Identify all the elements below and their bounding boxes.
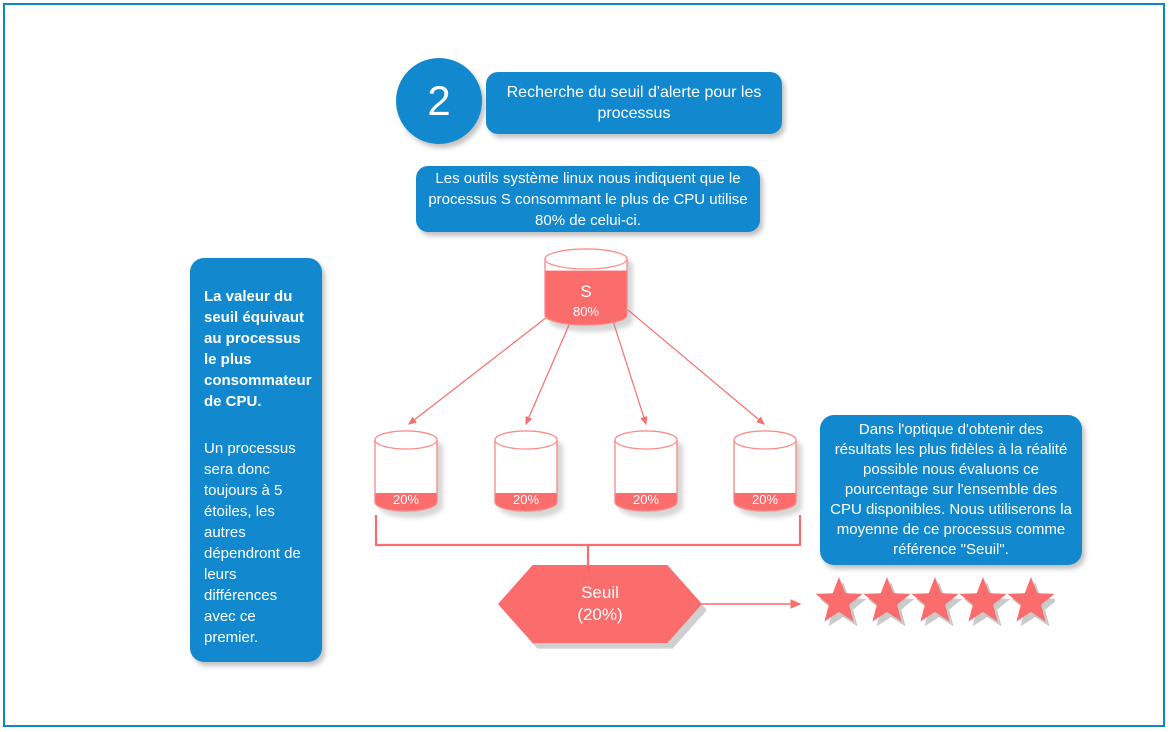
right-panel-text: Dans l'optique d'obtenir des résultats l… [830, 420, 1072, 560]
left-panel-bold-text: La valeur du seuil équivaut au processus… [204, 286, 312, 412]
arrow-to-cylinder-3 [612, 318, 646, 424]
main-cylinder-percent: 80% [544, 304, 628, 319]
cpu-cylinder-percent: 20% [374, 492, 438, 507]
cpu-cylinder-percent: 20% [733, 492, 797, 507]
star-rating [815, 575, 1055, 630]
cpu-cylinder-percent: 20% [614, 492, 678, 507]
step-number: 2 [427, 80, 450, 122]
arrow-to-cylinder-1 [409, 310, 556, 424]
cpu-cylinder-2: 20% [494, 430, 558, 512]
right-explanation-panel: Dans l'optique d'obtenir des résultats l… [820, 415, 1082, 565]
left-explanation-panel: La valeur du seuil équivaut au processus… [190, 258, 322, 662]
threshold-hexagon: Seuil (20%) [498, 565, 702, 643]
threshold-value: (20%) [577, 604, 622, 626]
aggregation-bracket [376, 515, 800, 545]
cpu-cylinder-3: 20% [614, 430, 678, 512]
info-box: Les outils système linux nous indiquent … [416, 166, 760, 232]
diagram-canvas: 2 Recherche du seuil d'alerte pour les p… [0, 0, 1170, 732]
cpu-cylinder-percent: 20% [494, 492, 558, 507]
arrow-to-cylinder-4 [628, 310, 764, 424]
left-panel-regular-text: Un processus sera donc toujours à 5 étoi… [204, 438, 308, 648]
info-box-text: Les outils système linux nous indiquent … [426, 168, 750, 231]
threshold-hexagon-wrap: Seuil (20%) [498, 565, 702, 643]
cpu-cylinder-1: 20% [374, 430, 438, 512]
arrow-to-cylinder-2 [526, 318, 572, 424]
main-process-cylinder: S 80% [544, 248, 628, 326]
main-cylinder-label: S [544, 282, 628, 302]
threshold-label: Seuil [581, 582, 619, 604]
cpu-cylinder-4: 20% [733, 430, 797, 512]
step-title-text: Recherche du seuil d'alerte pour les pro… [498, 82, 770, 124]
step-title-box: Recherche du seuil d'alerte pour les pro… [486, 72, 782, 134]
step-number-badge: 2 [396, 58, 482, 144]
